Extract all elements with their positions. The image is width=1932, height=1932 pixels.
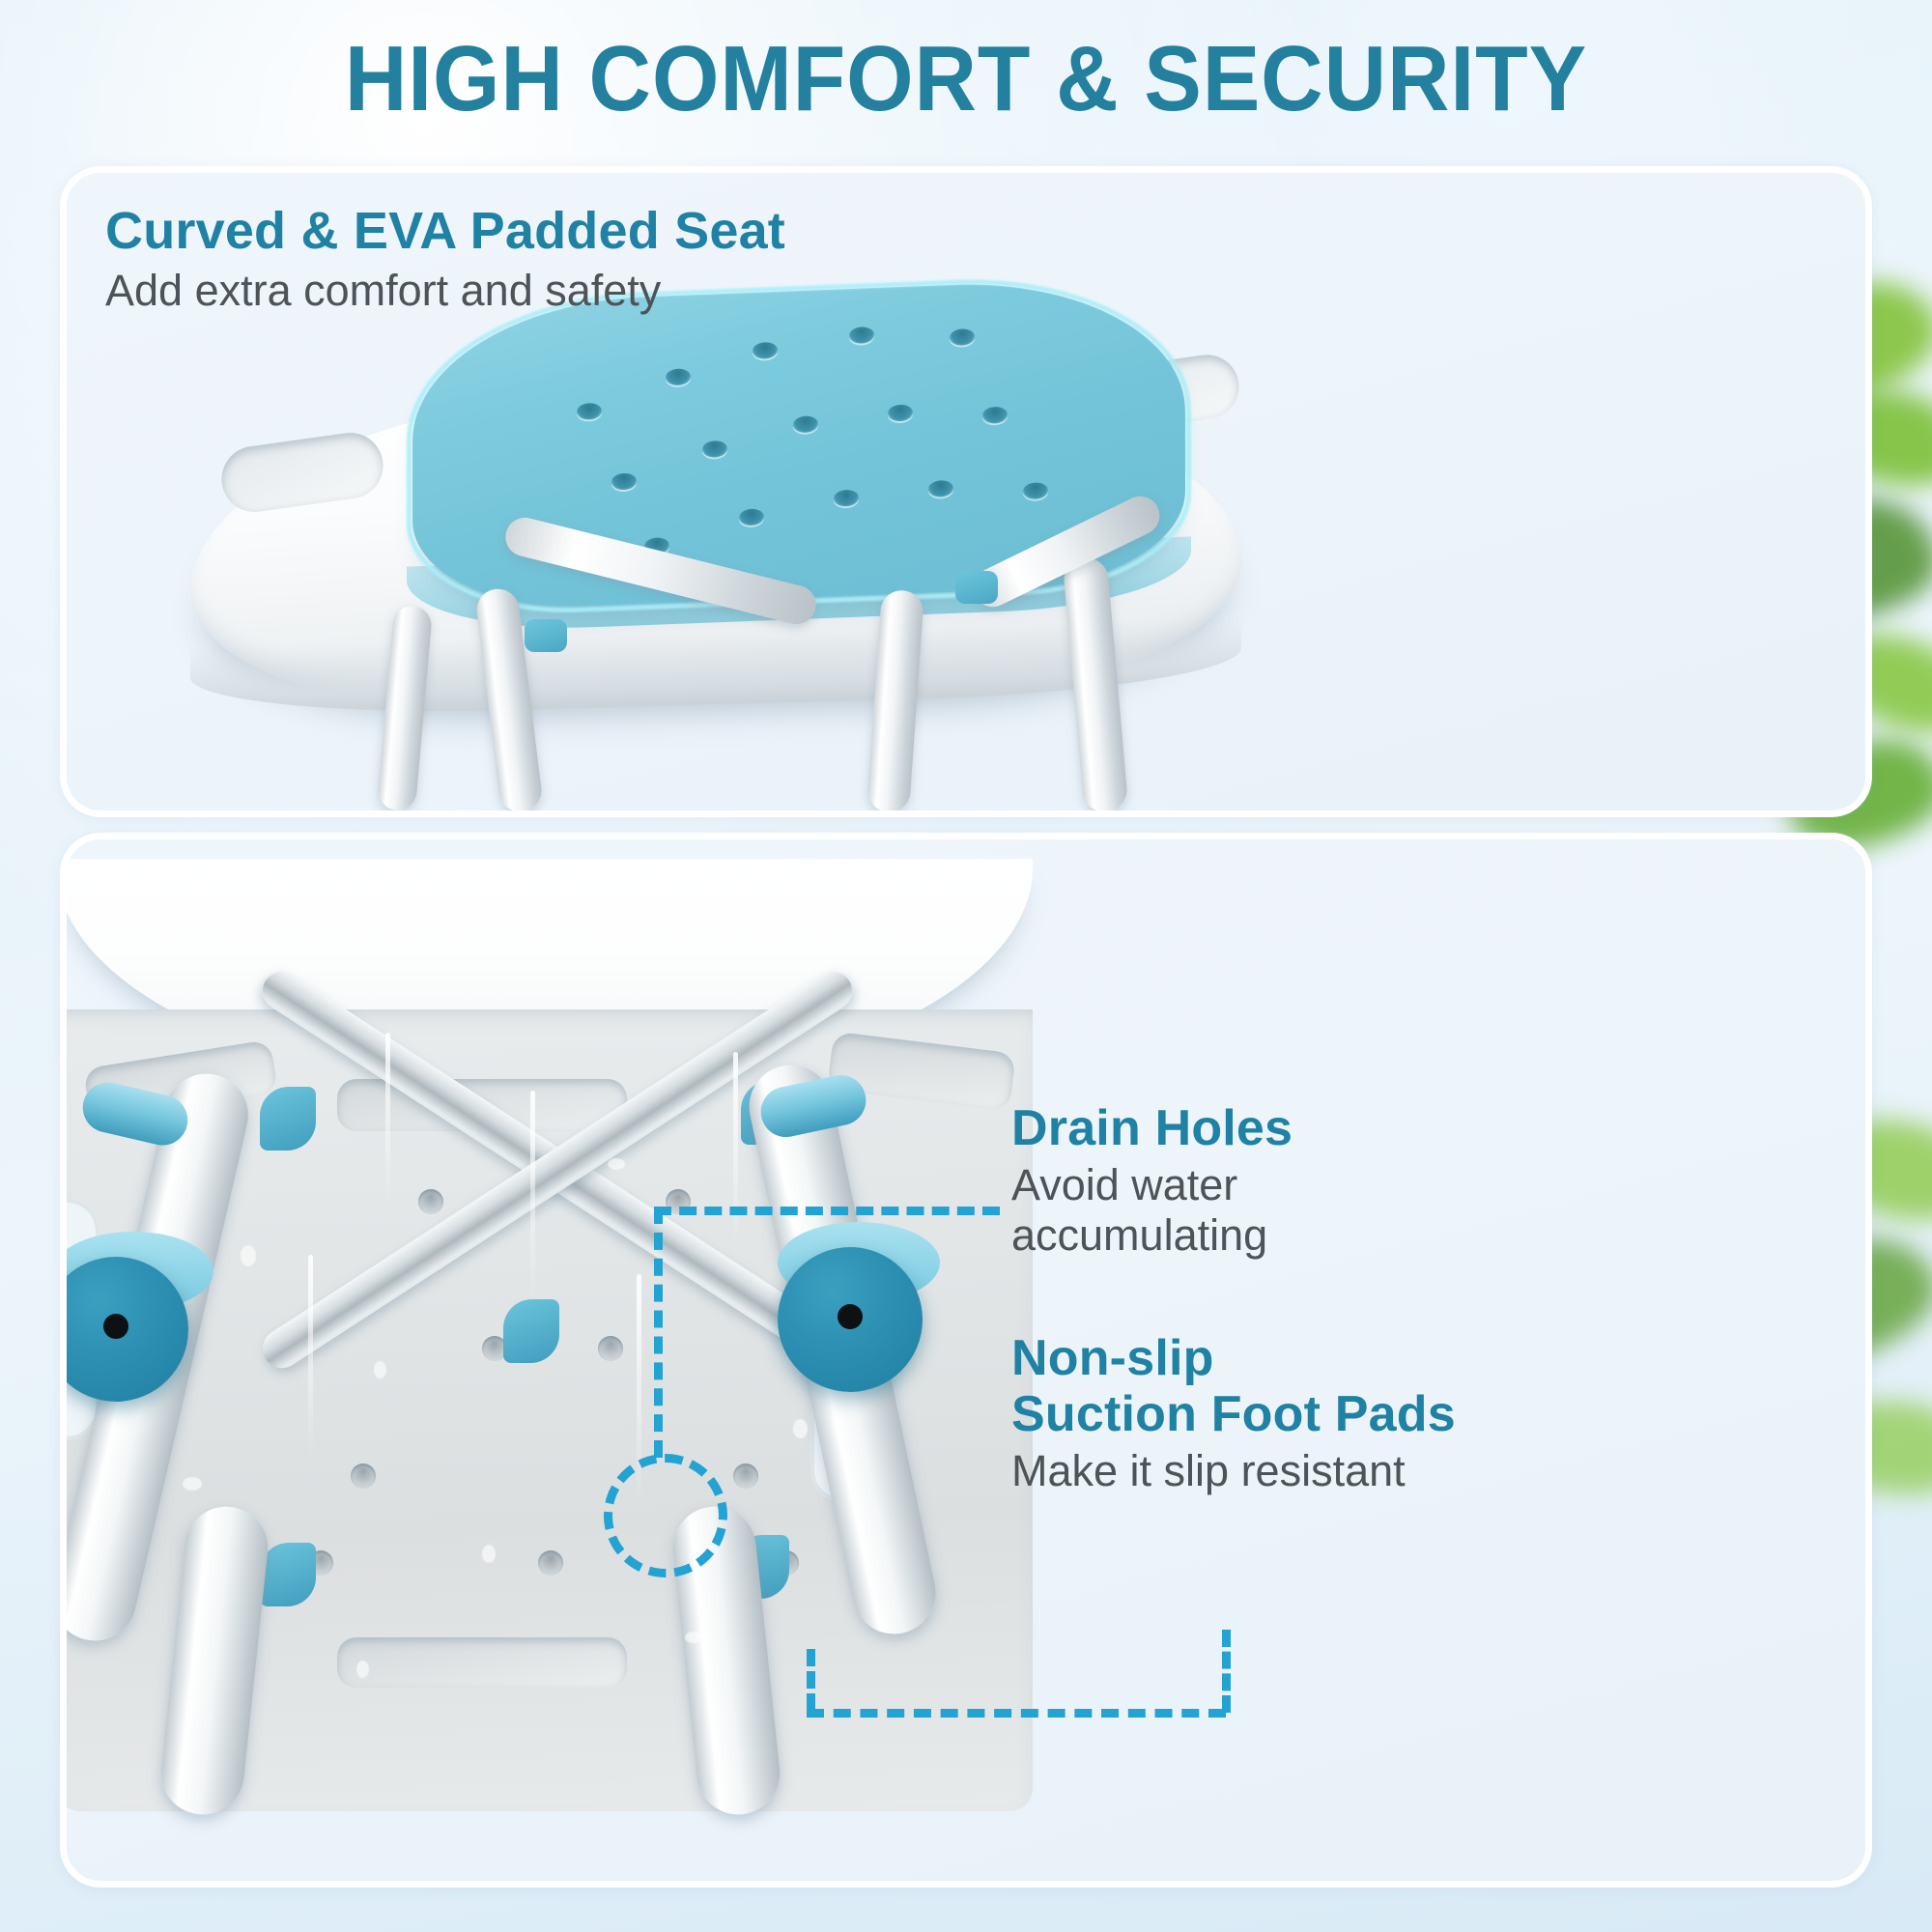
suction-foot-pad bbox=[778, 1247, 923, 1392]
drain-hole-highlight-circle bbox=[604, 1454, 727, 1577]
brace-clip bbox=[260, 1543, 316, 1606]
drain-hole bbox=[982, 407, 1008, 424]
brace-clip bbox=[955, 571, 998, 604]
feature-card-underside-detail: Drain Holes Avoid water accumulating Non… bbox=[60, 833, 1872, 1888]
drain-hole bbox=[753, 342, 778, 359]
drain-hole bbox=[418, 1189, 443, 1214]
drain-hole bbox=[733, 1463, 758, 1489]
drain-hole bbox=[611, 472, 637, 490]
infographic-canvas: HIGH COMFORT & SECURITY bbox=[0, 0, 1932, 1932]
drain-hole bbox=[577, 403, 602, 420]
water-droplet bbox=[241, 1245, 256, 1266]
card-title: Curved & EVA Padded Seat bbox=[105, 204, 785, 259]
feature-card-curved-eva-seat: Curved & EVA Padded Seat Add extra comfo… bbox=[60, 166, 1872, 817]
card-header-curved-eva-seat: Curved & EVA Padded Seat Add extra comfo… bbox=[105, 204, 785, 314]
drain-hole bbox=[888, 404, 913, 421]
brace-clip bbox=[525, 619, 567, 652]
water-streak bbox=[308, 1255, 313, 1458]
drain-hole bbox=[1023, 482, 1048, 499]
water-droplet bbox=[793, 1419, 808, 1438]
drain-hole bbox=[950, 328, 975, 346]
callout-title-line1: Non-slip bbox=[1011, 1330, 1872, 1386]
water-streak bbox=[530, 1091, 535, 1303]
callout-subtitle: Make it slip resistant bbox=[1011, 1446, 1872, 1496]
product-illustration-underside bbox=[67, 839, 1033, 1881]
drain-hole bbox=[849, 327, 874, 344]
drain-hole bbox=[834, 490, 859, 507]
water-droplet bbox=[685, 1632, 701, 1643]
callout-subtitle-line2: accumulating bbox=[1011, 1210, 1552, 1261]
water-streak bbox=[385, 1033, 390, 1207]
card-subtitle: Add extra comfort and safety bbox=[105, 267, 785, 315]
drain-hole bbox=[702, 440, 727, 458]
water-droplet bbox=[183, 1477, 202, 1491]
callout-subtitle-line1: Avoid water bbox=[1011, 1160, 1552, 1210]
brace-clip bbox=[260, 1087, 316, 1151]
callout-non-slip-suction-foot-pads: Non-slip Suction Foot Pads Make it slip … bbox=[1011, 1330, 1872, 1496]
drain-holes-connector-vertical bbox=[654, 1207, 663, 1458]
callout-title: Drain Holes bbox=[1011, 1100, 1552, 1156]
callout-title-line2: Suction Foot Pads bbox=[1011, 1386, 1872, 1442]
drain-hole bbox=[739, 508, 764, 526]
drain-hole bbox=[598, 1336, 623, 1361]
water-droplet bbox=[374, 1361, 386, 1378]
drain-hole bbox=[793, 415, 818, 433]
suction-pads-connector-horizontal bbox=[807, 1709, 1226, 1718]
drain-hole bbox=[928, 480, 953, 497]
drain-holes-connector-horizontal bbox=[654, 1207, 1000, 1215]
water-droplet bbox=[608, 1158, 625, 1170]
suction-pads-connector-vertical bbox=[807, 1649, 815, 1711]
callout-drain-holes: Drain Holes Avoid water accumulating bbox=[1011, 1100, 1552, 1261]
suction-pads-connector-riser bbox=[1222, 1630, 1231, 1713]
underside-slot bbox=[337, 1637, 627, 1688]
drain-hole bbox=[666, 368, 691, 385]
water-droplet bbox=[356, 1661, 369, 1678]
water-droplet bbox=[482, 1545, 496, 1563]
water-streak bbox=[733, 1052, 738, 1245]
drain-hole bbox=[351, 1463, 376, 1489]
page-title: HIGH COMFORT & SECURITY bbox=[68, 33, 1864, 126]
drain-hole bbox=[538, 1550, 563, 1576]
brace-clip bbox=[503, 1299, 559, 1363]
